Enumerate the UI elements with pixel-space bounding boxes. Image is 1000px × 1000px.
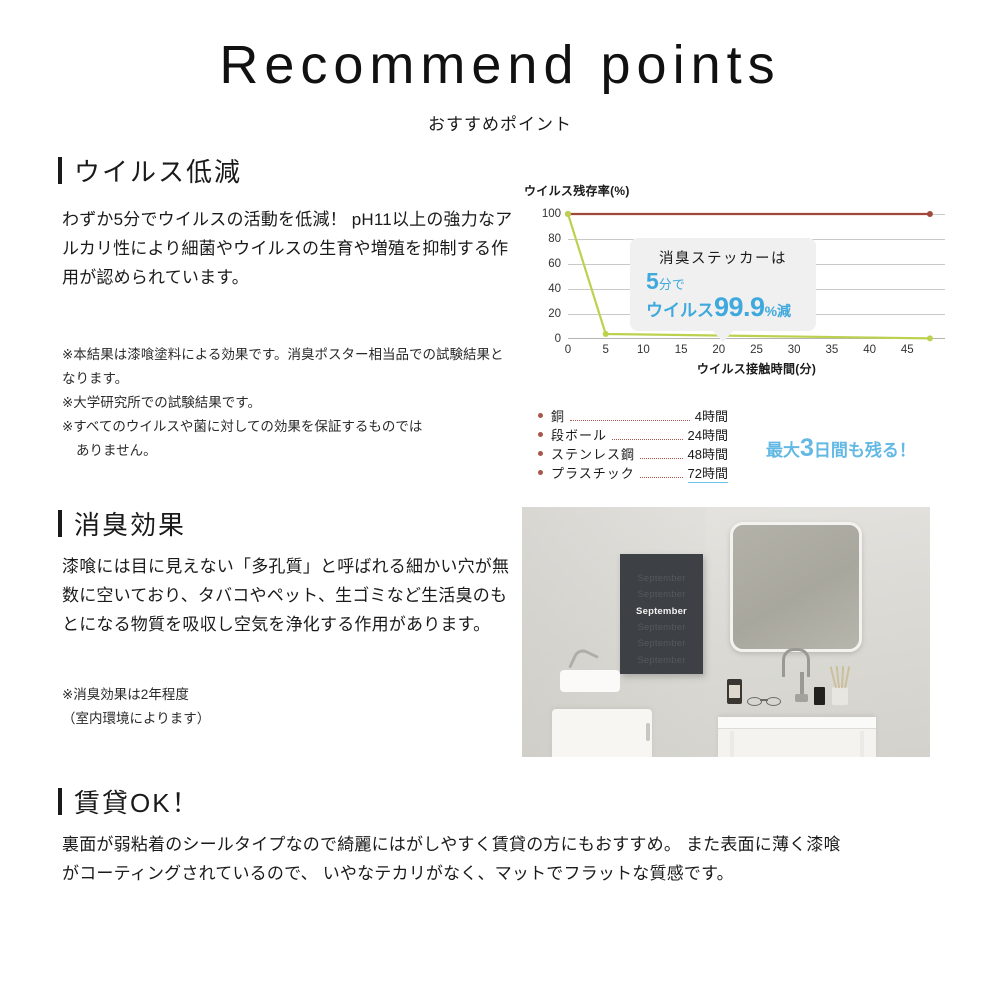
reed-diffuser-cup (832, 687, 848, 705)
heading-bar-icon (58, 157, 62, 184)
toilet-tank (552, 709, 652, 757)
section-heading-virus: ウイルス低減 (58, 152, 242, 189)
faucet-base (795, 694, 808, 702)
legend-item: 段ボール 24時間 (538, 425, 728, 444)
page-subtitle: おすすめポイント (0, 110, 1000, 135)
poster-line-active: September (620, 604, 703, 620)
x-tick-label: 10 (637, 344, 650, 356)
max-days-annotation: 最大3日間も残る！ (766, 434, 916, 463)
x-tick-label: 25 (750, 344, 763, 356)
toilet-flush-handle (646, 723, 650, 741)
page-header: Recommend points おすすめポイント (0, 34, 1000, 135)
section-body-odor: 漆喰には目に見えない「多孔質」と呼ばれる細かい穴が無数に空いており、タバコやペッ… (62, 552, 514, 640)
vanity-counter (718, 717, 876, 757)
x-tick-label: 45 (901, 344, 914, 356)
wall-mirror (730, 522, 862, 652)
vanity-leg (730, 731, 734, 757)
y-tick-label: 80 (548, 233, 561, 245)
reed-stick (844, 666, 850, 688)
section-heading-rental: 賃貸OK！ (58, 783, 200, 820)
note-item: ※本結果は漆喰塗料による効果です。消臭ポスター相当品での試験結果となります。 (62, 343, 514, 391)
vanity-leg (860, 731, 864, 757)
legend-item-value: 4時間 (695, 406, 728, 425)
faucet-spout (782, 648, 810, 677)
legend-item: プラスチック 72時間 (538, 463, 728, 482)
legend-item-value: 72時間 (688, 463, 728, 483)
callout-virus-word: ウイルス (646, 301, 714, 320)
note-item: ※消臭効果は2年程度 (62, 683, 514, 707)
glasses-lens-right (766, 697, 781, 706)
x-tick-label: 20 (712, 344, 725, 356)
max-days-number: 3 (800, 434, 814, 462)
callout-line-2: 5分で (640, 270, 806, 293)
legend-item-label: 銅 (551, 406, 565, 425)
x-tick-label: 5 (602, 344, 608, 356)
heading-bar-icon (58, 510, 62, 537)
reed-stick (836, 666, 840, 688)
callout-line-3: ウイルス99.9%減 (640, 294, 806, 321)
legend-dot-icon (538, 451, 543, 456)
section-heading-label: 賃貸OK！ (74, 783, 200, 820)
legend-dot-icon (538, 413, 543, 418)
note-item: ※すべてのウイルスや菌に対しての効果を保証するものでは (62, 415, 514, 439)
section-heading-odor: 消臭効果 (58, 505, 186, 542)
section-body-virus: わずか5分でウイルスの活動を低減！ pH11以上の強力なアルカリ性により細菌やウ… (62, 205, 514, 293)
reed-stick (841, 666, 844, 688)
vanity-countertop (718, 717, 876, 729)
chart-y-axis-title: ウイルス残存率(%) (524, 182, 630, 199)
legend-item-value: 48時間 (688, 444, 728, 463)
section-heading-label: 消臭効果 (74, 505, 186, 542)
callout-line-1: 消臭ステッカーは (640, 247, 806, 268)
section-notes-odor: ※消臭効果は2年程度 （室内環境によります） (62, 683, 514, 731)
x-tick-label: 30 (788, 344, 801, 356)
legend-item-label: ステンレス鋼 (551, 444, 635, 463)
callout-percent-number: 99.9 (714, 292, 765, 322)
callout-percent-sign: % (765, 303, 777, 319)
chart-callout-bubble: 消臭ステッカーは 5分で ウイルス99.9%減 (630, 238, 816, 331)
amber-bottle (727, 679, 742, 704)
poster-line: September (620, 620, 703, 636)
x-tick-label: 15 (675, 344, 688, 356)
poster-line: September (620, 653, 703, 669)
callout-minutes-suffix: で (672, 277, 685, 292)
note-item: ※大学研究所での試験結果です。 (62, 391, 514, 415)
legend-item-value: 24時間 (688, 425, 728, 444)
chart-data-point (927, 335, 933, 341)
bottle-label (729, 685, 740, 698)
legend-item-label: 段ボール (551, 425, 607, 444)
september-poster: September September September September … (620, 554, 703, 674)
chart-data-point (565, 211, 571, 217)
legend-item: ステンレス鋼 48時間 (538, 444, 728, 463)
callout-reduce-word: 減 (777, 303, 791, 319)
x-tick-label: 0 (565, 344, 571, 356)
legend-item: 銅 4時間 (538, 406, 728, 425)
legend-dot-icon (538, 432, 543, 437)
y-tick-label: 0 (555, 333, 561, 345)
y-tick-label: 40 (548, 283, 561, 295)
bathroom-interior-photo: September September September September … (522, 507, 930, 757)
chart-data-point (927, 211, 933, 217)
y-tick-label: 100 (542, 208, 561, 220)
chart-legend: 銅 4時間 段ボール 24時間 ステンレス鋼 48時間 プラスチック 72時間 (538, 406, 728, 482)
section-heading-label: ウイルス低減 (74, 152, 242, 189)
sink-faucet (782, 648, 806, 700)
legend-dot-icon (538, 470, 543, 475)
max-days-suffix: 日間も残る！ (814, 441, 916, 460)
x-tick-label: 35 (825, 344, 838, 356)
page-title: Recommend points (0, 34, 1000, 96)
legend-item-label: プラスチック (551, 463, 635, 482)
callout-minutes-number: 5 (646, 268, 659, 294)
note-item: （室内環境によります） (62, 707, 514, 731)
x-tick-label: 40 (863, 344, 876, 356)
legend-leader-dots (640, 477, 683, 478)
legend-leader-dots (570, 420, 690, 421)
poster-line: September (620, 571, 703, 587)
legend-leader-dots (612, 439, 683, 440)
y-tick-label: 60 (548, 258, 561, 270)
section-notes-virus: ※本結果は漆喰塗料による効果です。消臭ポスター相当品での試験結果となります。 ※… (62, 343, 514, 463)
chart-x-axis-title: ウイルス接触時間(分) (568, 360, 945, 377)
y-tick-label: 20 (548, 308, 561, 320)
note-item-continued: ありません。 (62, 439, 514, 463)
poster-line: September (620, 636, 703, 652)
diffuser-bottle (814, 687, 825, 705)
section-body-rental: 裏面が弱粘着のシールタイプなので綺麗にはがしやすく賃貸の方にもおすすめ。 また表… (62, 830, 852, 888)
max-days-prefix: 最大 (766, 441, 800, 460)
callout-minutes-unit: 分 (659, 277, 672, 292)
chart-data-point (603, 331, 609, 337)
eyeglasses (747, 697, 781, 705)
poster-line: September (620, 587, 703, 603)
heading-bar-icon (58, 788, 62, 815)
legend-leader-dots (640, 458, 683, 459)
